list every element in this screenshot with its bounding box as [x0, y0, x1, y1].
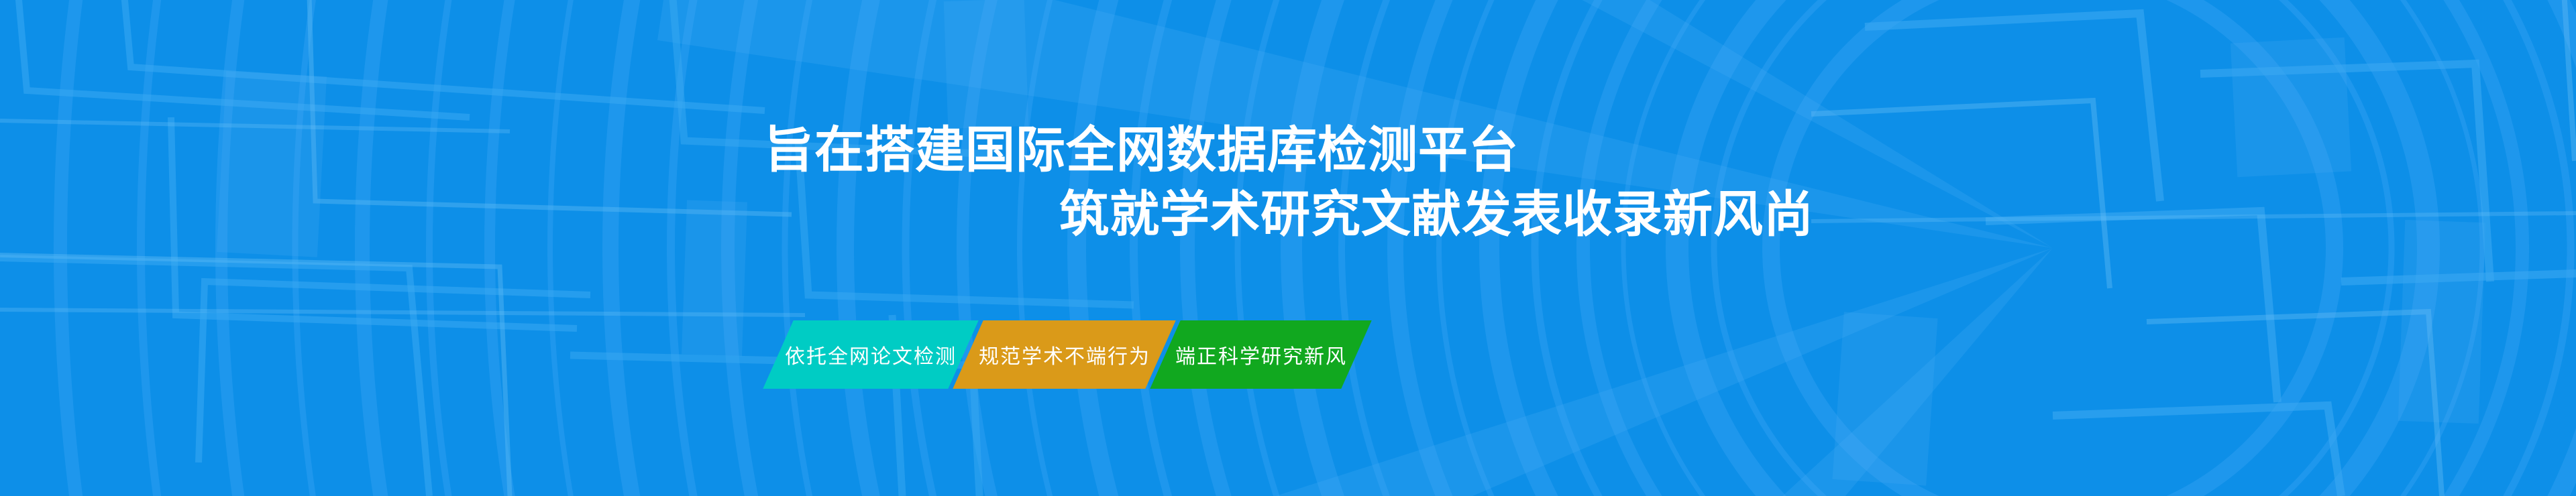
feature-tag-3[interactable]: 端正科学研究新风 — [1150, 320, 1371, 389]
feature-tag-1[interactable]: 依托全网论文检测 — [763, 320, 978, 389]
feature-tag-2-label: 规范学术不端行为 — [979, 340, 1150, 369]
feature-tag-2[interactable]: 规范学术不端行为 — [953, 320, 1175, 389]
promo-banner: 旨在搭建国际全网数据库检测平台 筑就学术研究文献发表收录新风尚 依托全网论文检测… — [0, 0, 2576, 496]
feature-tag-1-label: 依托全网论文检测 — [785, 340, 957, 369]
headline-line-2: 筑就学术研究文献发表收录新风尚 — [0, 182, 1819, 247]
feature-tag-band: 依托全网论文检测 规范学术不端行为 端正科学研究新风 — [778, 320, 1356, 389]
headline: 旨在搭建国际全网数据库检测平台 筑就学术研究文献发表收录新风尚 — [0, 118, 1819, 247]
headline-line-1: 旨在搭建国际全网数据库检测平台 — [0, 118, 1819, 182]
feature-tag-3-label: 端正科学研究新风 — [1175, 340, 1347, 369]
background-decoration — [0, 0, 2576, 496]
